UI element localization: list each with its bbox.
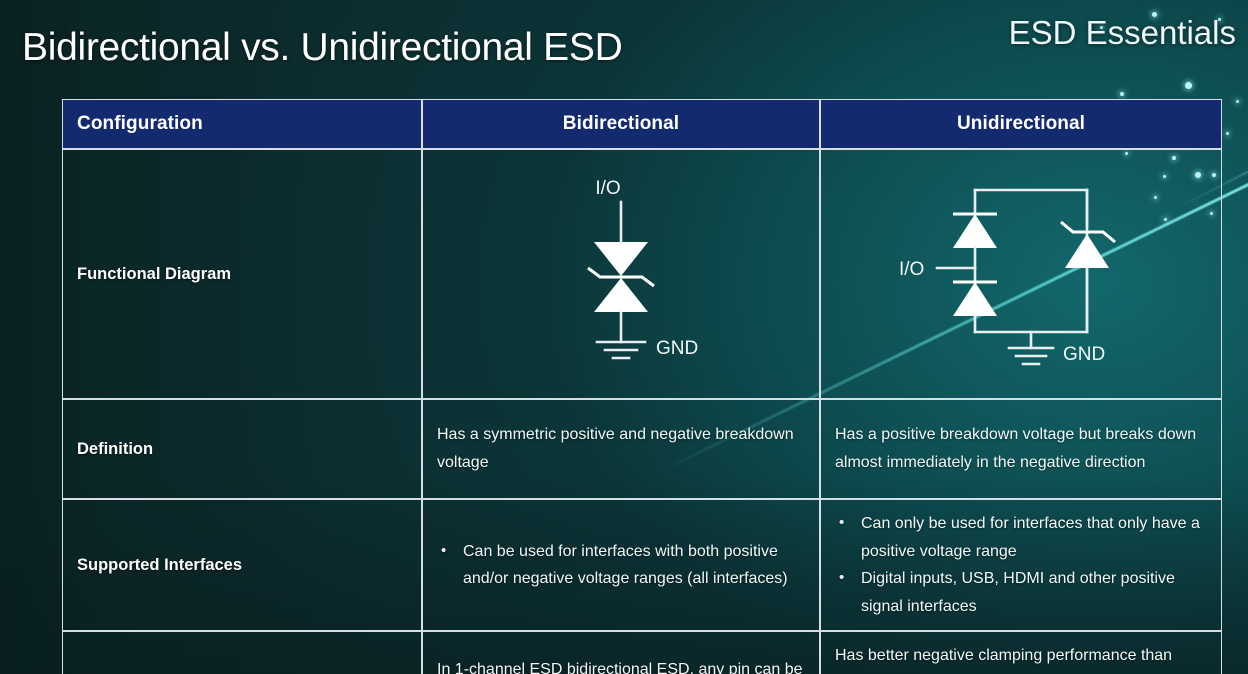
particle-dot	[1236, 100, 1239, 103]
bidirectional-diagram-cell: I/O	[422, 149, 820, 399]
table-header: Configuration Bidirectional Unidirection…	[62, 99, 1222, 149]
supported-interfaces-unidirectional: Can only be used for interfaces that onl…	[820, 499, 1222, 631]
bidirectional-tvs-diode-icon: I/O	[496, 164, 746, 384]
io-label-uni: I/O	[899, 259, 924, 280]
definition-bidirectional: Has a symmetric positive and negative br…	[422, 399, 820, 499]
unidirectional-esd-diode-network-icon: I/O	[891, 164, 1151, 384]
row-label-supported-interfaces: Supported Interfaces	[62, 499, 422, 631]
benefits-bidirectional: In 1-channel ESD bidirectional ESD, any …	[422, 631, 820, 674]
list-item: Digital inputs, USB, HDMI and other posi…	[835, 565, 1209, 620]
io-label-bi: I/O	[595, 178, 620, 199]
gnd-label-bi: GND	[656, 338, 698, 359]
particle-dot	[1120, 92, 1124, 96]
unidirectional-diagram-cell: I/O	[820, 149, 1222, 399]
gnd-label-uni: GND	[1063, 344, 1105, 365]
definition-unidirectional: Has a positive breakdown voltage but bre…	[820, 399, 1222, 499]
table-row: Supported Interfaces Can be used for int…	[62, 499, 1222, 631]
particle-dot	[1185, 82, 1192, 89]
list-item: Can be used for interfaces with both pos…	[437, 538, 807, 593]
table-row: Functional Diagram I/O	[62, 149, 1222, 399]
comparison-table-container: Configuration Bidirectional Unidirection…	[62, 99, 1222, 661]
row-label-functional-diagram: Functional Diagram	[62, 149, 422, 399]
column-header-bidirectional: Bidirectional	[422, 99, 820, 149]
benefits-unidirectional: Has better negative clamping performance…	[820, 631, 1222, 674]
table-row: Benefits In 1-channel ESD bidirectional …	[62, 631, 1222, 674]
row-label-benefits: Benefits	[62, 631, 422, 674]
particle-dot	[1226, 132, 1229, 135]
supported-interfaces-bidirectional: Can be used for interfaces with both pos…	[422, 499, 820, 631]
column-header-unidirectional: Unidirectional	[820, 99, 1222, 149]
bullet-list-bidirectional: Can be used for interfaces with both pos…	[437, 538, 807, 593]
page-title: Bidirectional vs. Unidirectional ESD	[22, 26, 622, 70]
comparison-table: Configuration Bidirectional Unidirection…	[62, 99, 1222, 674]
table-body: Functional Diagram I/O	[62, 149, 1222, 674]
row-label-definition: Definition	[62, 399, 422, 499]
list-item: Can only be used for interfaces that onl…	[835, 510, 1209, 565]
series-kicker: ESD Essentials	[1009, 14, 1236, 52]
bullet-list-unidirectional: Can only be used for interfaces that onl…	[835, 510, 1209, 620]
slide-canvas: Bidirectional vs. Unidirectional ESD ESD…	[0, 0, 1248, 674]
column-header-configuration: Configuration	[62, 99, 422, 149]
table-row: Definition Has a symmetric positive and …	[62, 399, 1222, 499]
table-header-row: Configuration Bidirectional Unidirection…	[62, 99, 1222, 149]
